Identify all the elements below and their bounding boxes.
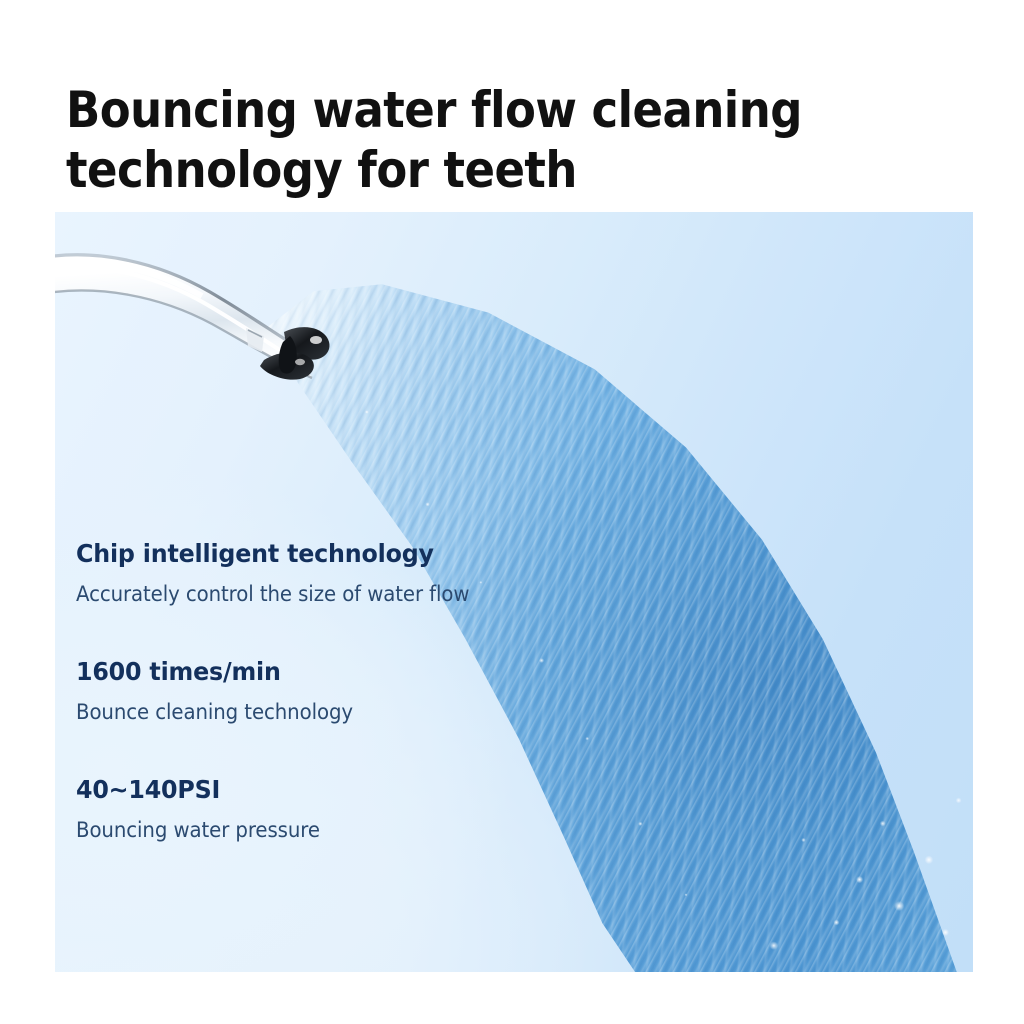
feature-description: Accurately control the size of water flo… xyxy=(76,580,518,608)
water-flosser-nozzle xyxy=(55,232,380,402)
feature-description: Bounce cleaning technology xyxy=(76,698,518,726)
page-title: Bouncing water flow cleaning technology … xyxy=(66,80,858,200)
feature-title: Chip intelligent technology xyxy=(76,538,523,570)
feature-title: 1600 times/min xyxy=(76,656,523,688)
feature-item: 40~140PSI Bouncing water pressure xyxy=(76,774,546,844)
water-bubbles xyxy=(655,642,973,972)
product-feature-page: Bouncing water flow cleaning technology … xyxy=(0,0,1024,1024)
product-photo-panel: Chip intelligent technology Accurately c… xyxy=(55,212,973,972)
feature-list: Chip intelligent technology Accurately c… xyxy=(76,538,546,844)
feature-item: 1600 times/min Bounce cleaning technolog… xyxy=(76,656,546,726)
feature-description: Bouncing water pressure xyxy=(76,816,518,844)
feature-title: 40~140PSI xyxy=(76,774,523,806)
feature-item: Chip intelligent technology Accurately c… xyxy=(76,538,546,608)
